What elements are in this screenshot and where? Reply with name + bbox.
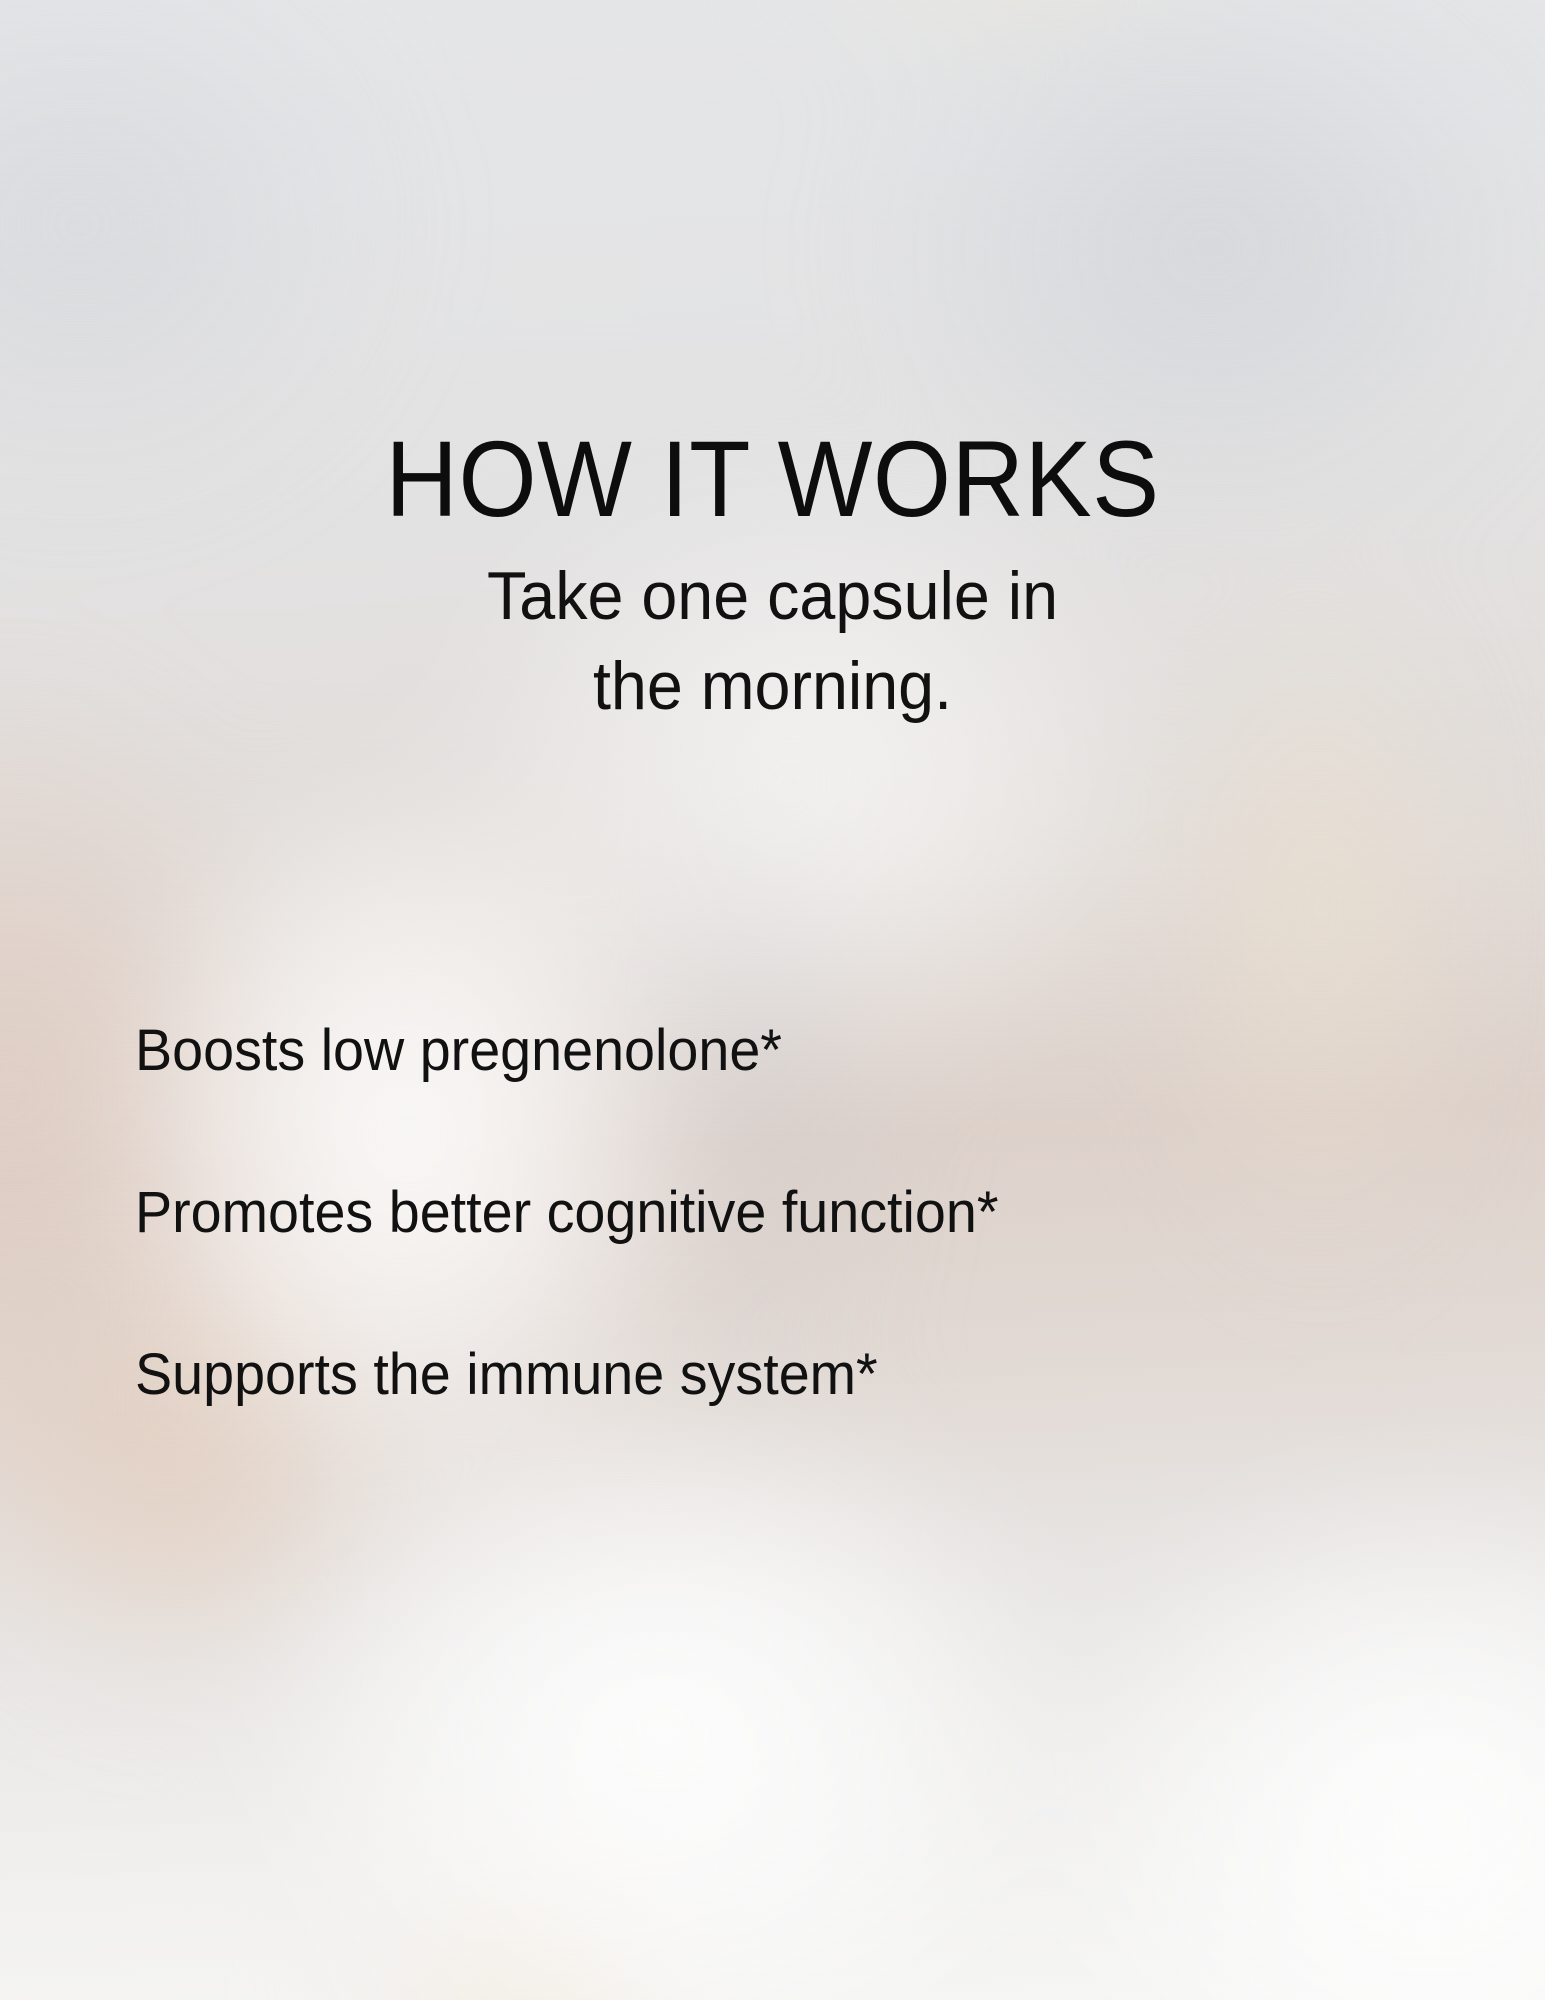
benefits-list: Boosts low pregnenolone* Promotes better… — [135, 1022, 1465, 1404]
benefit-item-cognitive-function: Promotes better cognitive function* — [135, 1184, 1412, 1242]
page-title: HOW IT WORKS — [54, 422, 1491, 536]
instruction-line-1: Take one capsule in — [39, 552, 1507, 642]
benefit-item-immune-system: Supports the immune system* — [135, 1346, 1412, 1404]
instruction-line-2: the morning. — [39, 642, 1507, 732]
benefit-item-pregnenolone: Boosts low pregnenolone* — [135, 1022, 1412, 1080]
instruction-text: Take one capsule in the morning. — [39, 552, 1507, 732]
content-container: HOW IT WORKS Take one capsule in the mor… — [0, 0, 1545, 2000]
how-it-works-promo-card: HOW IT WORKS Take one capsule in the mor… — [0, 0, 1545, 2000]
